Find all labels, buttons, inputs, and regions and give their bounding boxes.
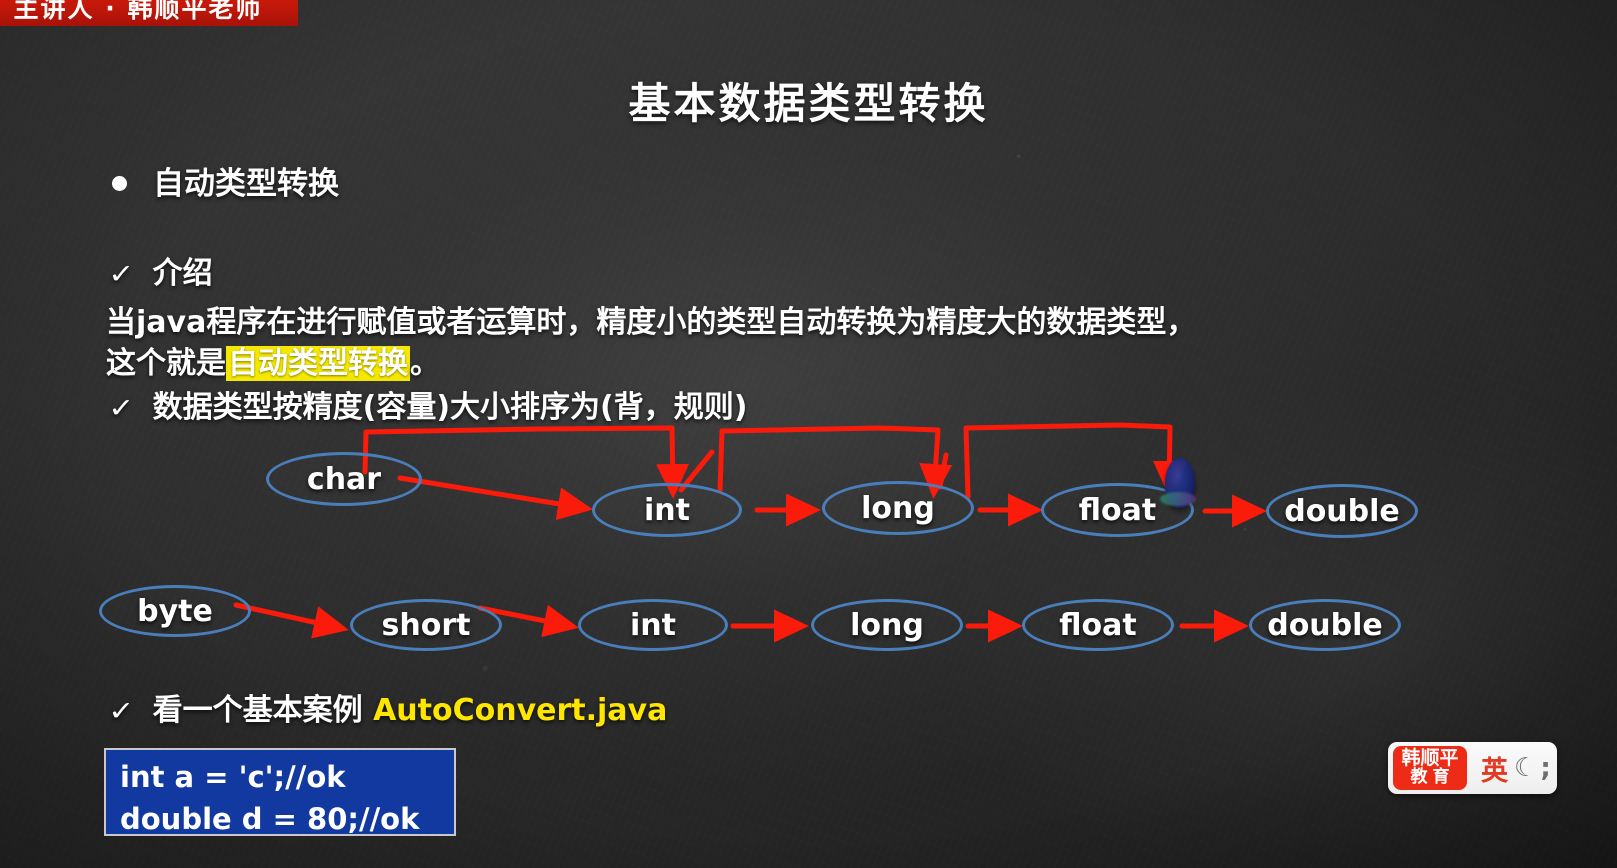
check-order-rule-label: 数据类型按精度(容量)大小排序为(背，规则) [153, 390, 748, 425]
paragraph-line-1: 当java程序在进行赋值或者运算时，精度小的类型自动转换为精度大的数据类型， [106, 297, 1196, 341]
paragraph-line-2-suffix: 。 [410, 346, 440, 381]
type-oval-label: float [1079, 493, 1156, 528]
type-oval-short: short [350, 599, 502, 651]
check-icon: ✓ [108, 696, 134, 727]
type-oval-int: int [592, 483, 742, 537]
type-oval-label: float [1059, 608, 1136, 643]
type-oval-long: long [822, 481, 974, 535]
check-icon: ✓ [108, 393, 134, 424]
paragraph-line-2: 这个就是自动类型转换。 [106, 338, 440, 382]
type-oval-label: int [644, 493, 690, 528]
code-snippet-box: int a = 'c';//ok double d = 80;//ok [104, 748, 456, 836]
ime-punctuation-toggle[interactable]: ; [1540, 753, 1550, 783]
type-oval-label: double [1267, 608, 1383, 643]
code-line-2: double d = 80;//ok [120, 798, 440, 836]
bullet-auto-type-conversion-label: 自动类型转换 [153, 166, 339, 202]
type-oval-label: int [630, 608, 676, 643]
check-example-case: ✓看一个基本案例 AutoConvert.java [110, 685, 667, 729]
presenter-banner-text: 主讲人 · 韩顺平老师 [14, 0, 263, 26]
type-oval-char: char [266, 452, 422, 506]
paragraph-line-2-prefix: 这个就是 [106, 346, 226, 381]
paragraph-line-2-highlight: 自动类型转换 [226, 346, 410, 381]
slide-canvas: 主讲人 · 韩顺平老师 基本数据类型转换 自动类型转换 ✓介绍 当java程序在… [0, 0, 1617, 868]
check-intro: ✓介绍 [110, 248, 213, 292]
ime-language-toggle[interactable]: 英 [1481, 749, 1508, 788]
blue-blob-artifact-tail [1160, 492, 1196, 506]
check-order-rule: ✓数据类型按精度(容量)大小排序为(背，规则) [110, 382, 747, 426]
code-line-1: int a = 'c';//ok [120, 756, 440, 798]
type-oval-label: byte [137, 594, 213, 629]
brand-logo-line-2: 教育 [1406, 769, 1455, 787]
bullet-dot-icon [112, 176, 127, 191]
type-oval-double: double [1266, 484, 1418, 538]
bullet-auto-type-conversion: 自动类型转换 [112, 158, 339, 203]
moon-icon[interactable]: ☾ [1514, 753, 1537, 783]
check-example-case-label: 看一个基本案例 [153, 693, 363, 728]
page-title: 基本数据类型转换 [0, 70, 1617, 131]
type-oval-label: double [1284, 494, 1400, 529]
presenter-banner: 主讲人 · 韩顺平老师 [0, 0, 298, 26]
type-oval-label: long [850, 608, 924, 643]
ime-status-bar[interactable]: 韩顺平 教育 英 ☾ ; [1388, 742, 1557, 794]
type-oval-byte: byte [99, 585, 251, 637]
type-oval-float: float [1022, 599, 1174, 651]
type-oval-long: long [811, 599, 963, 651]
brand-logo: 韩顺平 教育 [1393, 746, 1467, 790]
example-file-name: AutoConvert.java [373, 693, 667, 728]
type-oval-double: double [1249, 599, 1401, 651]
type-oval-label: long [861, 491, 935, 526]
check-intro-label: 介绍 [153, 256, 213, 291]
check-icon: ✓ [108, 259, 134, 290]
type-oval-label: short [382, 608, 471, 643]
type-oval-label: char [307, 462, 381, 497]
type-oval-int: int [578, 599, 728, 651]
